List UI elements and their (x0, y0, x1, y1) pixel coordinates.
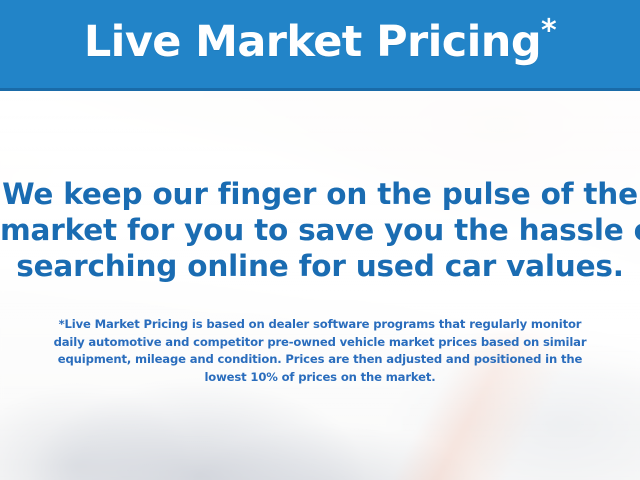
disclaimer-line-4: lowest 10% of prices on the market. (20, 369, 620, 387)
banner-title: Live Market Pricing* (84, 21, 556, 68)
banner-title-text: Live Market Pricing (84, 17, 541, 67)
banner-title-asterisk: * (541, 13, 556, 48)
disclaimer: *Live Market Pricing is based on dealer … (20, 316, 620, 386)
disclaimer-line-1: *Live Market Pricing is based on dealer … (20, 316, 620, 334)
disclaimer-line-2: daily automotive and competitor pre-owne… (20, 334, 620, 352)
headline: We keep our finger on the pulse of the m… (0, 176, 640, 284)
headline-line-1: We keep our finger on the pulse of the (0, 176, 640, 212)
headline-line-2: market for you to save you the hassle of (0, 212, 640, 248)
headline-line-3: searching online for used car values. (0, 248, 640, 284)
title-banner: Live Market Pricing* (0, 0, 640, 91)
marketing-slide: Live Market Pricing* We keep our finger … (0, 0, 640, 480)
disclaimer-line-3: equipment, mileage and condition. Prices… (20, 351, 620, 369)
